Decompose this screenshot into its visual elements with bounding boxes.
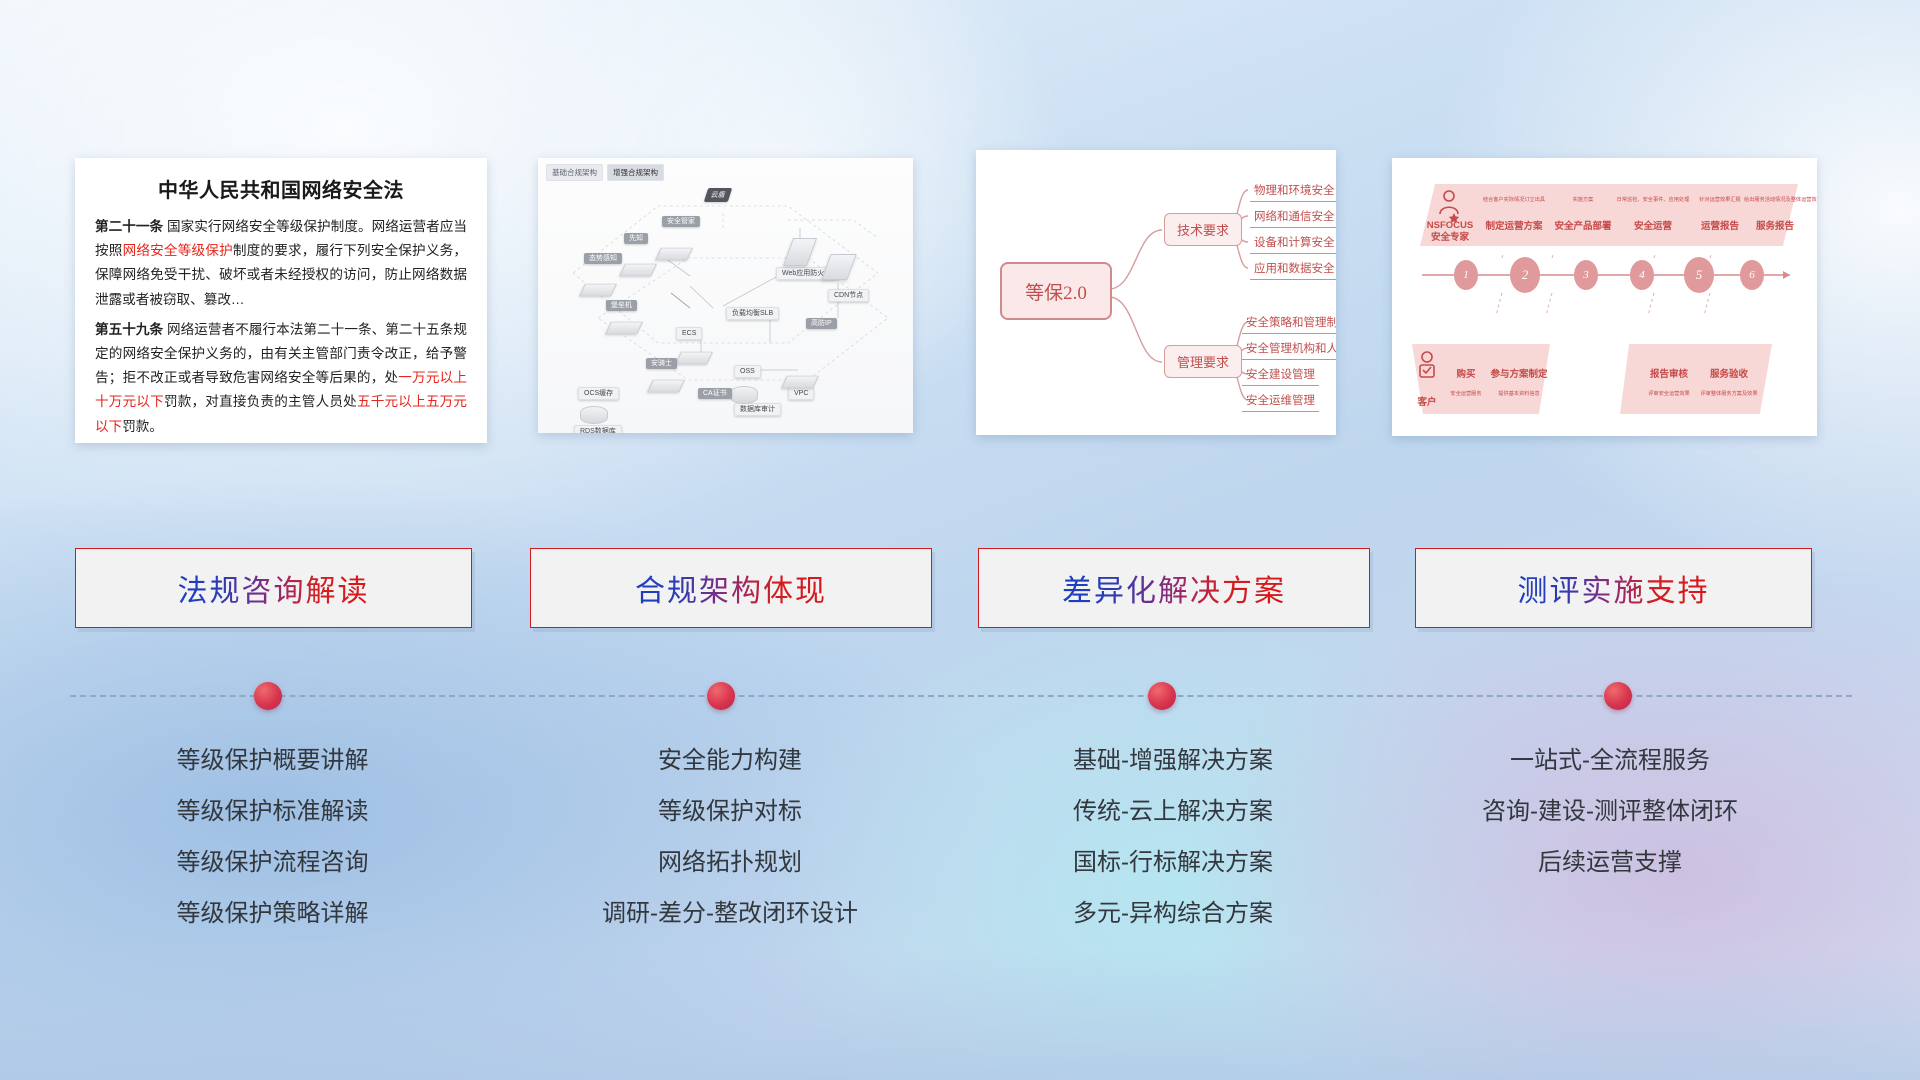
list-item: 等级保护标准解读: [75, 786, 470, 837]
service-flow-step-3: 3: [1574, 260, 1598, 290]
arch-node-cdn: CDN节点: [828, 290, 869, 300]
service-flow-top-desc-4: 针对运营效果汇报: [1688, 196, 1752, 203]
law-card[interactable]: 中华人民共和国网络安全法 第二十一条 国家实行网络安全等级保护制度。网络运营者应…: [75, 158, 487, 443]
arch-node-ecs: ECS: [676, 330, 702, 337]
law-article-2-run-4: 罚款。: [122, 419, 163, 434]
arch-node-ocs-box: [580, 406, 608, 424]
arch-node-security-butler: 安全管家: [662, 216, 700, 226]
service-flow-bottom-title-2: 参与方案制定: [1488, 366, 1550, 380]
service-flow-top-title-5: 服务报告: [1744, 218, 1806, 232]
column-title-box-3[interactable]: 差异化解决方案: [978, 548, 1370, 628]
service-flow-top-desc-2: 实施方案: [1550, 196, 1616, 203]
service-flow-top-desc-1: 结合客户实际情况订立出具: [1478, 196, 1550, 203]
arch-node-anqishi-box: [650, 376, 682, 396]
column-title-box-2[interactable]: 合规架构体现: [530, 548, 932, 628]
mindmap-leaf-physical-env: 物理和环境安全: [1250, 180, 1336, 202]
law-article-2: 第五十九条 网络运营者不履行本法第二十一条、第二十五条规定的网络安全保护义务的，…: [95, 318, 467, 439]
column-title-2: 合规架构体现: [635, 566, 827, 610]
law-article-1-run-1: 网络安全等级保护: [123, 243, 233, 258]
arch-node-pc-terminal: [826, 254, 852, 280]
timeline-axis: [70, 695, 1852, 697]
list-item: 等级保护概要讲解: [75, 735, 470, 786]
service-flow-top-desc-5: 给出服务活动情况及整体运营效果: [1744, 196, 1806, 203]
arch-node-bastion-box: [608, 318, 640, 338]
arch-node-anqishi: 安骑士: [646, 358, 677, 368]
column-title-box-1[interactable]: 法规咨询解读: [75, 548, 472, 628]
timeline-dot-1[interactable]: [254, 682, 282, 710]
list-item: 一站式-全流程服务: [1400, 735, 1820, 786]
service-flow-top-title-4: 运营报告: [1688, 218, 1752, 232]
column-list-4: 一站式-全流程服务 咨询-建设-测评整体闭环 后续运营支撑: [1400, 735, 1820, 888]
mindmap-branch-technical: 技术要求: [1164, 213, 1242, 246]
law-card-title: 中华人民共和国网络安全法: [95, 174, 467, 203]
column-list-3: 基础-增强解决方案 传统-云上解决方案 国标-行标解决方案 多元-异构综合方案: [978, 735, 1368, 939]
list-item: 网络拓扑规划: [530, 837, 930, 888]
mindmap-leaf-policy-system: 安全策略和管理制度: [1242, 312, 1336, 334]
arch-node-oss-cyl: [730, 386, 758, 404]
arch-node-xianzhi: 先知: [624, 233, 648, 243]
service-flow-vendor-label-2: 安全专家: [1422, 232, 1478, 243]
arch-node-vpc-box: [784, 372, 816, 392]
column-list-2: 安全能力构建 等级保护对标 网络拓扑规划 调研-差分-整改闭环设计: [530, 735, 930, 939]
mindmap-leaf-construction-mgmt: 安全建设管理: [1242, 364, 1319, 386]
law-article-1: 第二十一条 国家实行网络安全等级保护制度。网络运营者应当按照网络安全等级保护制度…: [95, 215, 467, 312]
mindmap-leaf-device-compute: 设备和计算安全: [1250, 232, 1336, 254]
column-list-1: 等级保护概要讲解 等级保护标准解读 等级保护流程咨询 等级保护策略详解: [75, 735, 470, 939]
list-item: 安全能力构建: [530, 735, 930, 786]
timeline-dot-3[interactable]: [1148, 682, 1176, 710]
arch-node-rds: RDS数据库: [574, 426, 622, 433]
arch-node-ca-cert: CA证书: [698, 388, 732, 398]
mindmap-root: 等保2.0: [1000, 262, 1112, 320]
mindmap-leaf-ops-mgmt: 安全运维管理: [1242, 390, 1319, 412]
timeline-dot-2[interactable]: [707, 682, 735, 710]
arch-node-ecs-box: [678, 348, 710, 368]
service-flow-step-5: 5: [1684, 257, 1714, 293]
list-item: 咨询-建设-测评整体闭环: [1400, 786, 1820, 837]
column-title-3: 差异化解决方案: [1062, 566, 1286, 610]
arch-node-anti-ddos-ip: 高防IP: [806, 318, 837, 328]
security-expert-icon: [1434, 188, 1464, 222]
timeline-dot-4[interactable]: [1604, 682, 1632, 710]
list-item: 等级保护流程咨询: [75, 837, 470, 888]
service-flow-customer-label: 客户: [1410, 394, 1444, 408]
arch-node-oss: OSS: [734, 368, 761, 375]
mindmap-leaf-org-personnel: 安全管理机构和人员: [1242, 338, 1336, 360]
column-title-1: 法规咨询解读: [178, 566, 370, 610]
column-title-4: 测评实施支持: [1518, 566, 1710, 610]
arch-node-cloud-shield: 云盾: [706, 188, 730, 202]
service-flow-top-title-2: 安全产品部署: [1550, 218, 1616, 232]
service-flow-card[interactable]: NSFOCUS 安全专家 结合客户实际情况订立出具 制定运营方案 实施方案 安全…: [1392, 158, 1817, 436]
service-flow-step-2: 2: [1510, 257, 1540, 293]
list-item: 国标-行标解决方案: [978, 837, 1368, 888]
service-flow-bottom-desc-4: 评审整体服务方案及效果: [1696, 390, 1762, 397]
arch-node-situational-awareness: 态势感知: [584, 253, 622, 263]
list-item: 多元-异构综合方案: [978, 888, 1368, 939]
mindmap-branch-management: 管理要求: [1164, 345, 1242, 378]
thumbnail-row: 中华人民共和国网络安全法 第二十一条 国家实行网络安全等级保护制度。网络运营者应…: [0, 0, 1920, 470]
list-item: 调研-差分-整改闭环设计: [530, 888, 930, 939]
service-flow-step-4: 4: [1630, 260, 1654, 290]
customer-icon: [1414, 350, 1440, 390]
law-article-2-run-2: 罚款，对直接负责的主管人员处: [164, 394, 357, 409]
service-flow-bottom-title-1: 购买: [1444, 366, 1488, 380]
service-flow-step-6: 6: [1740, 260, 1764, 290]
service-flow-bottom-desc-3: 评审安全运营效果: [1638, 390, 1700, 397]
list-item: 传统-云上解决方案: [978, 786, 1368, 837]
service-flow-bottom-desc-1: 安全运营服务: [1440, 390, 1492, 397]
arch-node-load-balancer: 负载均衡SLB: [726, 308, 779, 318]
service-flow-top-title-1: 制定运营方案: [1478, 218, 1550, 232]
mindmap-card[interactable]: 等保2.0 技术要求 管理要求 物理和环境安全 网络和通信安全 设备和计算安全 …: [976, 150, 1336, 435]
list-item: 基础-增强解决方案: [978, 735, 1368, 786]
service-flow-top-title-3: 安全运营: [1620, 218, 1686, 232]
arch-node-sa-box: [582, 280, 614, 300]
arch-node-bastion-host: 堡垒机: [606, 300, 637, 310]
arch-node-mobile-terminal: [788, 238, 812, 266]
service-flow-bottom-desc-2: 提供基本资料信息: [1488, 390, 1550, 397]
arch-node-butler-box: [658, 244, 690, 264]
service-flow-bottom-title-4: 服务验收: [1700, 366, 1758, 380]
arch-node-ocs-cache: OCS缓存: [578, 388, 619, 398]
service-flow-bottom-title-3: 报告审核: [1640, 366, 1698, 380]
list-item: 后续运营支撑: [1400, 837, 1820, 888]
arch-node-db-audit: 数据库审计: [734, 404, 781, 414]
column-title-box-4[interactable]: 测评实施支持: [1415, 548, 1812, 628]
architecture-card[interactable]: 基础合规架构 增强合规架构: [538, 158, 913, 433]
list-item: 等级保护策略详解: [75, 888, 470, 939]
service-flow-vendor-label-1: NSFOCUS: [1422, 220, 1478, 231]
service-flow-top-desc-3: 日常巡检、安全事件、应用处理: [1614, 196, 1692, 203]
law-article-2-number: 第五十九条: [95, 322, 163, 337]
arch-node-xianzhi-box: [622, 260, 654, 280]
service-flow-step-1: 1: [1454, 260, 1478, 290]
law-article-1-number: 第二十一条: [95, 219, 163, 234]
mindmap-leaf-network-comm: 网络和通信安全: [1250, 206, 1336, 228]
mindmap-leaf-app-data: 应用和数据安全: [1250, 258, 1336, 280]
list-item: 等级保护对标: [530, 786, 930, 837]
